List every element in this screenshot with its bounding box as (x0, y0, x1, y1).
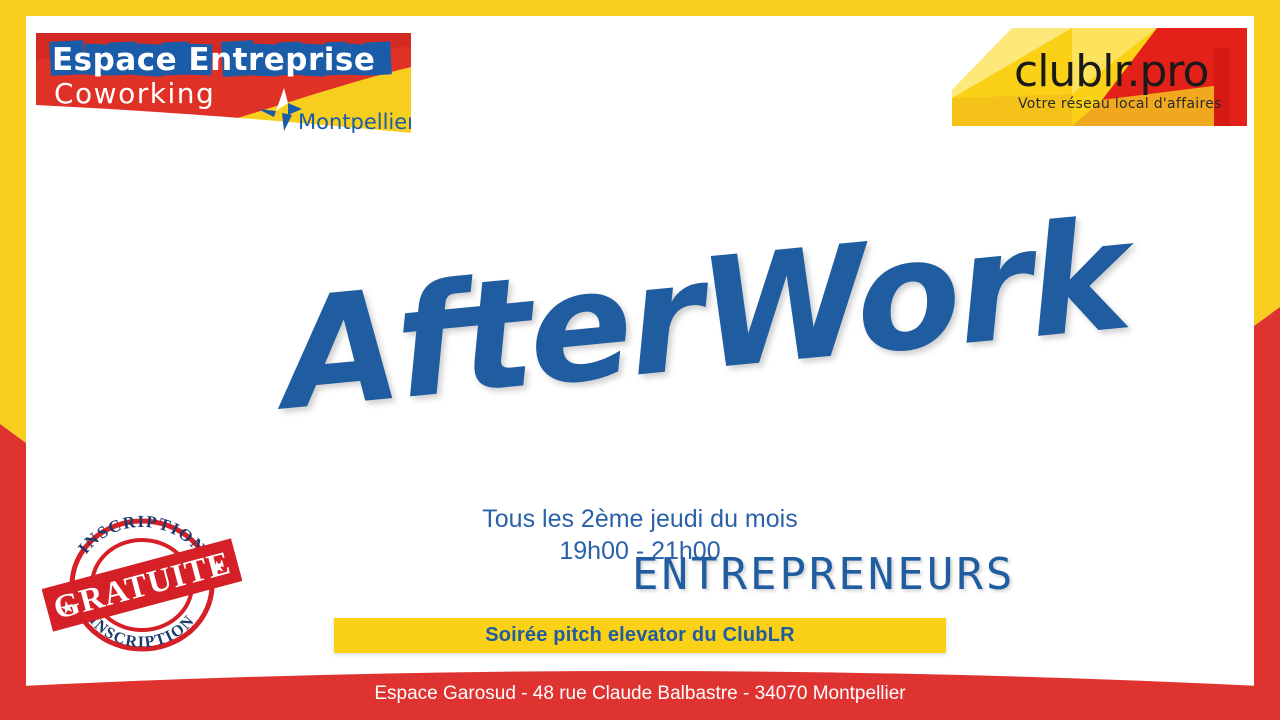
pitch-elevator-banner: Soirée pitch elevator du ClubLR (334, 618, 946, 653)
inscription-gratuite-stamp-graphic: INSCRIPTION INSCRIPTION GRATUITE ★ ★ (42, 505, 242, 660)
footer-address: Espace Garosud - 48 rue Claude Balbastre… (0, 682, 1280, 706)
pitch-elevator-banner-text: Soirée pitch elevator du ClubLR (485, 624, 795, 647)
espace-entreprise-logo[interactable]: Espace Entreprise Coworking Montpellier (36, 33, 411, 133)
event-poster: Espace Entreprise Coworking Montpellier (0, 0, 1280, 720)
logo-left-line2: Coworking (54, 77, 215, 110)
clublr-pro-logo-graphic: clublr.pro Votre réseau local d'affaires (952, 28, 1247, 126)
clublr-tagline-text: Votre réseau local d'affaires (1018, 96, 1222, 112)
stamp-ribbon: GRATUITE ★ ★ (42, 538, 242, 631)
afterwork-title: AfterWork (275, 199, 1133, 432)
inscription-gratuite-stamp: INSCRIPTION INSCRIPTION GRATUITE ★ ★ (42, 505, 242, 660)
clublr-pro-logo[interactable]: clublr.pro Votre réseau local d'affaires (952, 28, 1247, 126)
logo-left-city: Montpellier (298, 110, 411, 133)
logo-left-line1: Espace Entreprise (52, 42, 375, 78)
espace-entreprise-logo-graphic: Espace Entreprise Coworking Montpellier (36, 33, 411, 133)
frame-top-yellow (0, 0, 1280, 16)
clublr-brand-text: clublr.pro (1014, 46, 1208, 97)
